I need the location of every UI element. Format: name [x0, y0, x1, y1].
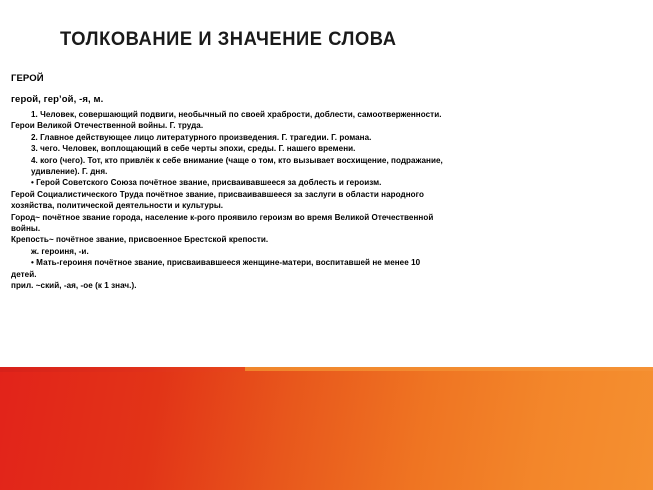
slide-canvas: ТОЛКОВАНИЕ И ЗНАЧЕНИЕ СЛОВА ГЕРОЙ герой,… [0, 0, 653, 490]
entry-lemma: герой, гер’ой, -я, м. [11, 93, 649, 106]
definition-line: прил. ~ский, -ая, -ое (к 1 знач.). [11, 280, 649, 291]
entry-definitions: 1. Человек, совершающий подвиги, необычн… [11, 109, 649, 292]
definition-line: • Мать-героиня почётное звание, присваив… [11, 257, 649, 268]
definition-line: Крепость~ почётное звание, присвоенное Б… [11, 234, 649, 245]
definition-line: 3. чего. Человек, воплощающий в себе чер… [11, 143, 649, 154]
definition-line: Город~ почётное звание города, население… [11, 212, 649, 223]
dictionary-entry: ГЕРОЙ герой, гер’ой, -я, м. 1. Человек, … [11, 72, 649, 292]
definition-line: 1. Человек, совершающий подвиги, необычн… [11, 109, 649, 120]
definition-line: хозяйства, политической деятельности и к… [11, 200, 649, 211]
definition-line: ж. героиня, -и. [11, 246, 649, 257]
decorative-band-accent-right [245, 367, 653, 371]
definition-line: Герои Великой Отечественной войны. Г. тр… [11, 120, 649, 131]
definition-line: детей. [11, 269, 649, 280]
definition-line: Герой Социалистического Труда почётное з… [11, 189, 649, 200]
page-title: ТОЛКОВАНИЕ И ЗНАЧЕНИЕ СЛОВА [60, 28, 586, 51]
decorative-gradient-band [0, 368, 653, 490]
definition-line: удивление). Г. дня. [11, 166, 649, 177]
entry-headword: ГЕРОЙ [11, 72, 649, 85]
decorative-band-accent-left [0, 367, 245, 372]
definition-line: • Герой Советского Союза почётное звание… [11, 177, 649, 188]
definition-line: войны. [11, 223, 649, 234]
definition-line: 4. кого (чего). Тот, кто привлёк к себе … [11, 155, 649, 166]
definition-line: 2. Главное действующее лицо литературног… [11, 132, 649, 143]
